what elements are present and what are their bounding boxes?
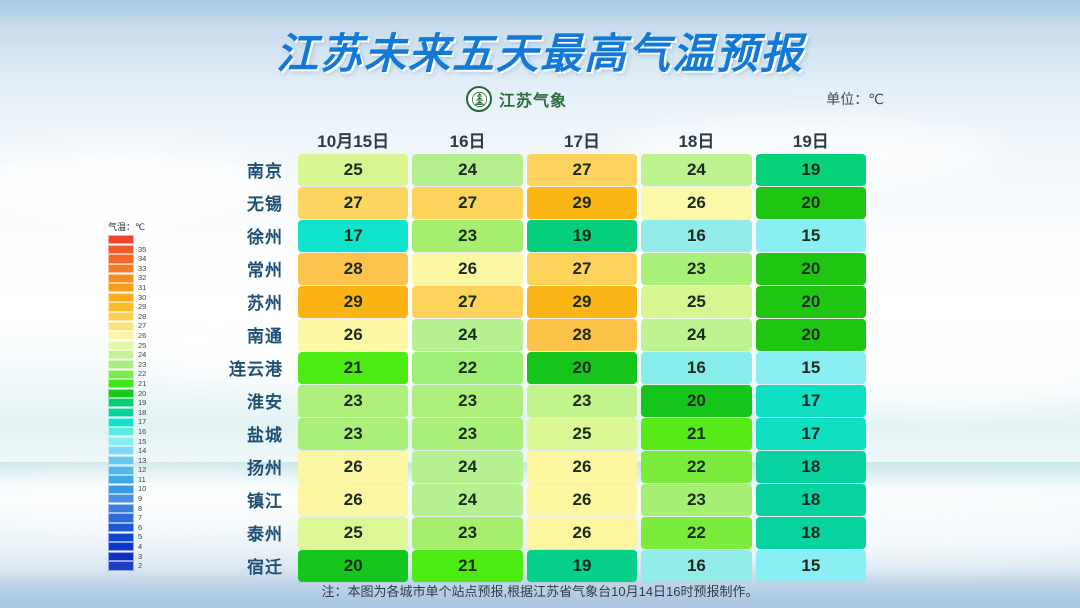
colorbar-stop: 17 <box>108 417 166 427</box>
colorbar-tick-label: 7 <box>138 514 142 522</box>
colorbar-swatch <box>108 379 134 388</box>
colorbar-swatch <box>108 466 134 475</box>
temperature-cell: 29 <box>298 286 408 318</box>
colorbar-stop: 12 <box>108 465 166 475</box>
colorbar-tick-label: 22 <box>138 370 146 378</box>
temperature-cell: 26 <box>412 253 522 285</box>
colorbar-stop: 6 <box>108 523 166 533</box>
unit-label: 单位：℃ <box>826 89 884 109</box>
temperature-cell-wrap: 23 <box>639 484 753 516</box>
colorbar-tick-label: 17 <box>138 418 146 426</box>
colorbar-swatch <box>108 523 134 532</box>
colorbar-tick-label: 19 <box>138 399 146 407</box>
colorbar-stop: 30 <box>108 293 166 303</box>
temperature-cell: 28 <box>527 319 637 351</box>
colorbar-stop: 16 <box>108 427 166 437</box>
colorbar-stop: 3 <box>108 552 166 562</box>
temperature-cell-wrap: 19 <box>754 154 868 186</box>
date-column-header: 18日 <box>639 127 753 152</box>
temperature-cell-wrap: 20 <box>754 253 868 285</box>
table-row: 扬州2624262218 <box>196 451 868 483</box>
colorbar-stop: 35 <box>108 245 166 255</box>
temperature-cell-wrap: 23 <box>410 517 524 549</box>
table-row: 连云港2122201615 <box>196 352 868 384</box>
temperature-cell-wrap: 15 <box>754 352 868 384</box>
temperature-cell-wrap: 24 <box>639 154 753 186</box>
city-name: 盐城 <box>196 421 296 446</box>
temperature-cell: 27 <box>412 286 522 318</box>
colorbar-swatch <box>108 513 134 522</box>
colorbar-stop <box>108 235 166 245</box>
colorbar-tick-label: 14 <box>138 447 146 455</box>
date-column-header: 17日 <box>525 127 639 152</box>
org-logo: 江苏气象 <box>466 86 567 112</box>
temperature-cell-wrap: 22 <box>410 352 524 384</box>
colorbar-stop: 14 <box>108 446 166 456</box>
temperature-cell: 26 <box>527 451 637 483</box>
temperature-cell-wrap: 26 <box>639 187 753 219</box>
temperature-cell-wrap: 20 <box>639 385 753 417</box>
colorbar-title: 气温：℃ <box>108 220 166 233</box>
temperature-cell: 20 <box>756 319 866 351</box>
city-name: 苏州 <box>196 289 296 314</box>
temperature-cell: 27 <box>412 187 522 219</box>
temperature-cell-wrap: 26 <box>410 253 524 285</box>
temperature-cell: 26 <box>298 319 408 351</box>
colorbar-tick-label: 30 <box>138 294 146 302</box>
city-name: 连云港 <box>196 355 296 380</box>
colorbar-swatch <box>108 533 134 542</box>
temperature-cell: 20 <box>641 385 751 417</box>
temperature-cell: 23 <box>412 220 522 252</box>
temperature-cell-wrap: 23 <box>410 385 524 417</box>
colorbar-stops: 3534333231302928272625242322212019181716… <box>108 235 166 571</box>
temperature-cell-wrap: 21 <box>639 418 753 450</box>
colorbar-swatch <box>108 283 134 292</box>
temperature-cell-wrap: 16 <box>639 550 753 582</box>
colorbar-swatch <box>108 561 134 570</box>
colorbar-tick-label: 33 <box>138 265 146 273</box>
colorbar-tick-label: 20 <box>138 390 146 398</box>
temperature-cell: 16 <box>641 352 751 384</box>
temperature-cell: 25 <box>641 286 751 318</box>
table-row: 常州2826272320 <box>196 253 868 285</box>
colorbar-stop: 32 <box>108 273 166 283</box>
city-name: 南通 <box>196 322 296 347</box>
colorbar-swatch <box>108 245 134 254</box>
temperature-cell: 25 <box>298 517 408 549</box>
colorbar-swatch <box>108 312 134 321</box>
temperature-cell-wrap: 25 <box>525 418 639 450</box>
colorbar-tick-label: 18 <box>138 409 146 417</box>
temperature-cell: 23 <box>412 385 522 417</box>
temperature-cell-wrap: 24 <box>639 319 753 351</box>
temperature-cell: 23 <box>641 253 751 285</box>
colorbar-tick-label: 9 <box>138 495 142 503</box>
temperature-cell: 25 <box>527 418 637 450</box>
temperature-cell: 18 <box>756 484 866 516</box>
temperature-cell: 19 <box>756 154 866 186</box>
colorbar-swatch <box>108 302 134 311</box>
colorbar-stop: 24 <box>108 350 166 360</box>
temperature-cell: 20 <box>756 187 866 219</box>
colorbar-stop: 10 <box>108 484 166 494</box>
temperature-cell-wrap: 22 <box>639 517 753 549</box>
colorbar-stop: 13 <box>108 456 166 466</box>
city-name: 无锡 <box>196 190 296 215</box>
temperature-cell: 24 <box>412 154 522 186</box>
colorbar-tick-label: 35 <box>138 246 146 254</box>
temperature-cell: 19 <box>527 550 637 582</box>
temperature-cell-wrap: 17 <box>754 385 868 417</box>
colorbar-tick-label: 16 <box>138 428 146 436</box>
colorbar-tick-label: 12 <box>138 466 146 474</box>
colorbar-swatch <box>108 552 134 561</box>
temperature-cell-wrap: 28 <box>525 319 639 351</box>
colorbar-swatch <box>108 293 134 302</box>
table-row: 宿迁2021191615 <box>196 550 868 582</box>
city-name: 扬州 <box>196 454 296 479</box>
temperature-cell-wrap: 24 <box>410 319 524 351</box>
colorbar-tick-label: 15 <box>138 438 146 446</box>
temperature-cell-wrap: 23 <box>639 253 753 285</box>
temperature-cell-wrap: 28 <box>296 253 410 285</box>
temperature-cell: 29 <box>527 286 637 318</box>
colorbar-swatch <box>108 370 134 379</box>
temperature-cell: 15 <box>756 220 866 252</box>
colorbar-stop: 29 <box>108 302 166 312</box>
colorbar-swatch <box>108 485 134 494</box>
temperature-cell-wrap: 27 <box>296 187 410 219</box>
temperature-cell-wrap: 21 <box>296 352 410 384</box>
colorbar-stop: 28 <box>108 312 166 322</box>
temperature-cell: 15 <box>756 352 866 384</box>
colorbar-stop: 33 <box>108 264 166 274</box>
temperature-cell-wrap: 22 <box>639 451 753 483</box>
temperature-cell: 24 <box>641 154 751 186</box>
colorbar-stop: 26 <box>108 331 166 341</box>
temperature-cell: 22 <box>641 451 751 483</box>
colorbar-stop: 22 <box>108 369 166 379</box>
temperature-cell: 18 <box>756 451 866 483</box>
temperature-cell-wrap: 18 <box>754 451 868 483</box>
pagoda-emblem-icon <box>466 86 492 112</box>
table-row: 镇江2624262318 <box>196 484 868 516</box>
colorbar-tick-label: 11 <box>138 476 146 484</box>
table-row: 泰州2523262218 <box>196 517 868 549</box>
temperature-cell-wrap: 19 <box>525 220 639 252</box>
colorbar-stop: 15 <box>108 436 166 446</box>
temperature-cell-wrap: 27 <box>410 286 524 318</box>
temperature-cell-wrap: 18 <box>754 517 868 549</box>
colorbar-stop: 27 <box>108 321 166 331</box>
colorbar-stop: 4 <box>108 542 166 552</box>
temperature-cell: 27 <box>527 154 637 186</box>
temperature-cell: 20 <box>756 286 866 318</box>
temperature-cell: 23 <box>298 385 408 417</box>
city-name: 淮安 <box>196 388 296 413</box>
temperature-cell: 18 <box>756 517 866 549</box>
footnote: 注：本图为各城市单个站点预报,根据江苏省气象台10月14日16时预报制作。 <box>0 581 1080 600</box>
colorbar-tick-label: 8 <box>138 505 142 513</box>
colorbar-tick-label: 26 <box>138 332 146 340</box>
city-name: 泰州 <box>196 520 296 545</box>
temperature-cell-wrap: 20 <box>296 550 410 582</box>
colorbar-stop: 2 <box>108 561 166 571</box>
colorbar-stop: 25 <box>108 341 166 351</box>
temperature-cell: 26 <box>298 484 408 516</box>
temperature-colorbar: 气温：℃ 35343332313029282726252423222120191… <box>108 220 166 571</box>
colorbar-tick-label: 28 <box>138 313 146 321</box>
temperature-cell: 23 <box>527 385 637 417</box>
temperature-cell-wrap: 24 <box>410 451 524 483</box>
colorbar-swatch <box>108 274 134 283</box>
temperature-cell-wrap: 19 <box>525 550 639 582</box>
colorbar-tick-label: 29 <box>138 303 146 311</box>
city-name: 宿迁 <box>196 553 296 578</box>
temperature-cell: 23 <box>641 484 751 516</box>
forecast-table: 10月15日16日17日18日19日 南京2524272419无锡2727292… <box>196 124 868 583</box>
colorbar-tick-label: 25 <box>138 342 146 350</box>
temperature-cell: 17 <box>756 418 866 450</box>
colorbar-tick-label: 34 <box>138 255 146 263</box>
temperature-cell-wrap: 29 <box>296 286 410 318</box>
colorbar-stop: 21 <box>108 379 166 389</box>
temperature-cell: 23 <box>412 418 522 450</box>
colorbar-swatch <box>108 418 134 427</box>
temperature-cell-wrap: 23 <box>296 385 410 417</box>
page-title: 江苏未来五天最高气温预报 <box>0 20 1080 81</box>
colorbar-swatch <box>108 475 134 484</box>
date-column-header: 10月15日 <box>296 127 410 152</box>
colorbar-tick-label: 32 <box>138 274 146 282</box>
temperature-cell: 24 <box>412 451 522 483</box>
table-body: 南京2524272419无锡2727292620徐州1723191615常州28… <box>196 154 868 582</box>
table-row: 苏州2927292520 <box>196 286 868 318</box>
temperature-cell: 26 <box>527 484 637 516</box>
table-row: 淮安2323232017 <box>196 385 868 417</box>
table-row: 徐州1723191615 <box>196 220 868 252</box>
colorbar-swatch <box>108 254 134 263</box>
temperature-cell-wrap: 25 <box>296 154 410 186</box>
temperature-cell: 29 <box>527 187 637 219</box>
temperature-cell-wrap: 27 <box>525 154 639 186</box>
temperature-cell-wrap: 21 <box>410 550 524 582</box>
date-column-header: 19日 <box>754 127 868 152</box>
temperature-cell-wrap: 23 <box>410 220 524 252</box>
temperature-cell: 17 <box>756 385 866 417</box>
colorbar-swatch <box>108 446 134 455</box>
temperature-cell: 28 <box>298 253 408 285</box>
table-row: 盐城2323252117 <box>196 418 868 450</box>
colorbar-stop: 8 <box>108 504 166 514</box>
temperature-cell: 21 <box>298 352 408 384</box>
temperature-cell-wrap: 18 <box>754 484 868 516</box>
colorbar-swatch <box>108 360 134 369</box>
colorbar-swatch <box>108 331 134 340</box>
temperature-cell: 26 <box>641 187 751 219</box>
temperature-cell-wrap: 27 <box>525 253 639 285</box>
temperature-cell: 15 <box>756 550 866 582</box>
temperature-cell-wrap: 20 <box>754 319 868 351</box>
colorbar-stop: 19 <box>108 398 166 408</box>
table-row: 无锡2727292620 <box>196 187 868 219</box>
colorbar-swatch <box>108 456 134 465</box>
colorbar-stop: 23 <box>108 360 166 370</box>
colorbar-swatch <box>108 494 134 503</box>
table-header-row: 10月15日16日17日18日19日 <box>196 124 868 154</box>
colorbar-tick-label: 3 <box>138 553 142 561</box>
temperature-cell-wrap: 23 <box>525 385 639 417</box>
temperature-cell: 24 <box>412 484 522 516</box>
temperature-cell-wrap: 26 <box>296 451 410 483</box>
colorbar-stop: 31 <box>108 283 166 293</box>
temperature-cell: 23 <box>412 517 522 549</box>
city-name: 常州 <box>196 256 296 281</box>
colorbar-tick-label: 4 <box>138 543 142 551</box>
colorbar-stop: 5 <box>108 532 166 542</box>
temperature-cell: 21 <box>641 418 751 450</box>
temperature-cell: 17 <box>298 220 408 252</box>
colorbar-stop: 9 <box>108 494 166 504</box>
temperature-cell-wrap: 24 <box>410 154 524 186</box>
temperature-cell-wrap: 26 <box>525 484 639 516</box>
colorbar-swatch <box>108 350 134 359</box>
temperature-cell: 20 <box>298 550 408 582</box>
colorbar-swatch <box>108 322 134 331</box>
temperature-cell: 24 <box>412 319 522 351</box>
temperature-cell: 21 <box>412 550 522 582</box>
table-row: 南通2624282420 <box>196 319 868 351</box>
temperature-cell: 23 <box>298 418 408 450</box>
colorbar-swatch <box>108 341 134 350</box>
city-name: 徐州 <box>196 223 296 248</box>
temperature-cell-wrap: 24 <box>410 484 524 516</box>
temperature-cell-wrap: 20 <box>754 187 868 219</box>
colorbar-swatch <box>108 389 134 398</box>
temperature-cell-wrap: 27 <box>410 187 524 219</box>
colorbar-tick-label: 2 <box>138 562 142 570</box>
temperature-cell-wrap: 20 <box>525 352 639 384</box>
org-name: 江苏气象 <box>499 87 567 111</box>
table-row: 南京2524272419 <box>196 154 868 186</box>
temperature-cell: 27 <box>298 187 408 219</box>
colorbar-stop: 20 <box>108 389 166 399</box>
colorbar-tick-label: 10 <box>138 485 146 493</box>
temperature-cell-wrap: 16 <box>639 352 753 384</box>
temperature-cell: 16 <box>641 220 751 252</box>
colorbar-stop: 7 <box>108 513 166 523</box>
temperature-cell-wrap: 26 <box>296 319 410 351</box>
temperature-cell-wrap: 16 <box>639 220 753 252</box>
temperature-cell-wrap: 29 <box>525 187 639 219</box>
temperature-cell: 22 <box>412 352 522 384</box>
colorbar-tick-label: 31 <box>138 284 146 292</box>
date-column-header: 16日 <box>410 127 524 152</box>
colorbar-swatch <box>108 427 134 436</box>
colorbar-swatch <box>108 398 134 407</box>
colorbar-stop: 18 <box>108 408 166 418</box>
temperature-cell: 26 <box>527 517 637 549</box>
temperature-cell-wrap: 29 <box>525 286 639 318</box>
colorbar-swatch <box>108 542 134 551</box>
colorbar-tick-label: 23 <box>138 361 146 369</box>
colorbar-tick-label: 27 <box>138 322 146 330</box>
forecast-infographic: 江苏未来五天最高气温预报 江苏气象 单位：℃ 气温：℃ 353433323130… <box>0 0 1080 608</box>
temperature-cell: 24 <box>641 319 751 351</box>
temperature-cell-wrap: 26 <box>525 451 639 483</box>
temperature-cell-wrap: 17 <box>754 418 868 450</box>
branding-row: 江苏气象 单位：℃ <box>0 86 1080 116</box>
temperature-cell: 19 <box>527 220 637 252</box>
temperature-cell-wrap: 15 <box>754 550 868 582</box>
temperature-cell: 20 <box>756 253 866 285</box>
temperature-cell-wrap: 23 <box>410 418 524 450</box>
temperature-cell: 22 <box>641 517 751 549</box>
colorbar-stop: 11 <box>108 475 166 485</box>
colorbar-tick-label: 13 <box>138 457 146 465</box>
colorbar-tick-label: 6 <box>138 524 142 532</box>
temperature-cell-wrap: 25 <box>296 517 410 549</box>
temperature-cell: 27 <box>527 253 637 285</box>
colorbar-swatch <box>108 235 134 244</box>
temperature-cell-wrap: 20 <box>754 286 868 318</box>
temperature-cell-wrap: 25 <box>639 286 753 318</box>
temperature-cell-wrap: 26 <box>296 484 410 516</box>
city-name: 南京 <box>196 157 296 182</box>
colorbar-tick-label: 21 <box>138 380 146 388</box>
temperature-cell: 26 <box>298 451 408 483</box>
temperature-cell: 25 <box>298 154 408 186</box>
date-headers: 10月15日16日17日18日19日 <box>296 127 868 152</box>
temperature-cell: 16 <box>641 550 751 582</box>
colorbar-tick-label: 5 <box>138 533 142 541</box>
city-name: 镇江 <box>196 487 296 512</box>
colorbar-swatch <box>108 437 134 446</box>
colorbar-swatch <box>108 264 134 273</box>
colorbar-swatch <box>108 408 134 417</box>
colorbar-swatch <box>108 504 134 513</box>
temperature-cell-wrap: 15 <box>754 220 868 252</box>
temperature-cell-wrap: 17 <box>296 220 410 252</box>
temperature-cell: 20 <box>527 352 637 384</box>
colorbar-tick-label: 24 <box>138 351 146 359</box>
temperature-cell-wrap: 26 <box>525 517 639 549</box>
colorbar-stop: 34 <box>108 254 166 264</box>
temperature-cell-wrap: 23 <box>296 418 410 450</box>
